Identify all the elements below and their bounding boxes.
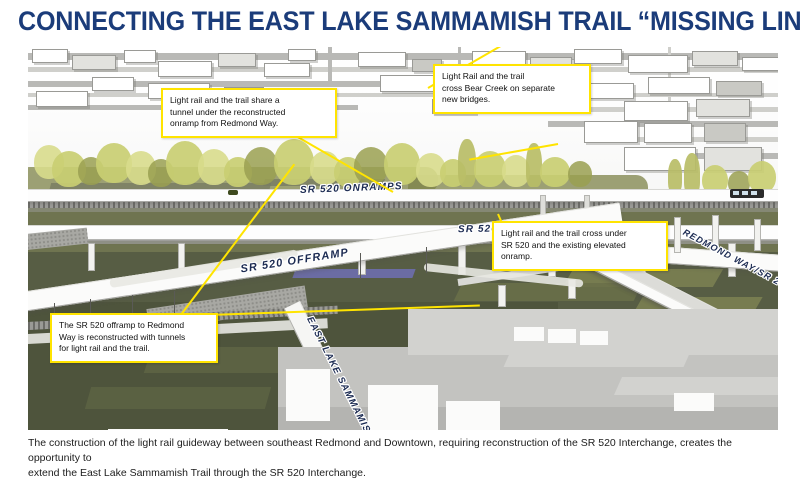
bear-creek-lower [292, 269, 415, 278]
light-rail-train-right [730, 189, 764, 198]
callout-line: SR 520 and the existing elevated [501, 240, 659, 252]
callout-tunnel-under-onramp: Light rail and the trail share a tunnel … [161, 88, 337, 138]
callout-line: Way is reconstructed with tunnels [59, 332, 209, 344]
callout-offramp-tunnels: The SR 520 offramp to Redmond Way is rec… [50, 313, 218, 363]
callout-bear-creek-bridges: Light Rail and the trail cross Bear Cree… [433, 64, 591, 114]
caption-line-1: The construction of the light rail guide… [28, 436, 780, 466]
callout-line: Light rail and the trail cross under [501, 228, 659, 240]
callout-line: new bridges. [442, 94, 582, 106]
callout-line: cross Bear Creek on separate [442, 83, 582, 95]
callout-line: tunnel under the reconstructed [170, 107, 328, 119]
figure-caption: The construction of the light rail guide… [28, 436, 780, 481]
callout-line: Light rail and the trail share a [170, 95, 328, 107]
caption-line-2: extend the East Lake Sammamish Trail thr… [28, 466, 780, 481]
infographic-page: CONNECTING THE EAST LAKE SAMMAMISH TRAIL… [0, 0, 803, 472]
callout-line: Light Rail and the trail [442, 71, 582, 83]
callout-line: onramp. [501, 251, 659, 263]
callout-line: The SR 520 offramp to Redmond [59, 320, 209, 332]
interchange-rendering: SR 520 ONRAMPS SR 520 THROUGH LANES SR 5… [28, 47, 778, 430]
callout-cross-under-sr-520: Light rail and the trail cross under SR … [492, 221, 668, 271]
vehicle-onramp [228, 190, 238, 195]
page-title: CONNECTING THE EAST LAKE SAMMAMISH TRAIL… [18, 4, 742, 38]
callout-line: onramp from Redmond Way. [170, 118, 328, 130]
callout-line: for light rail and the trail. [59, 343, 209, 355]
